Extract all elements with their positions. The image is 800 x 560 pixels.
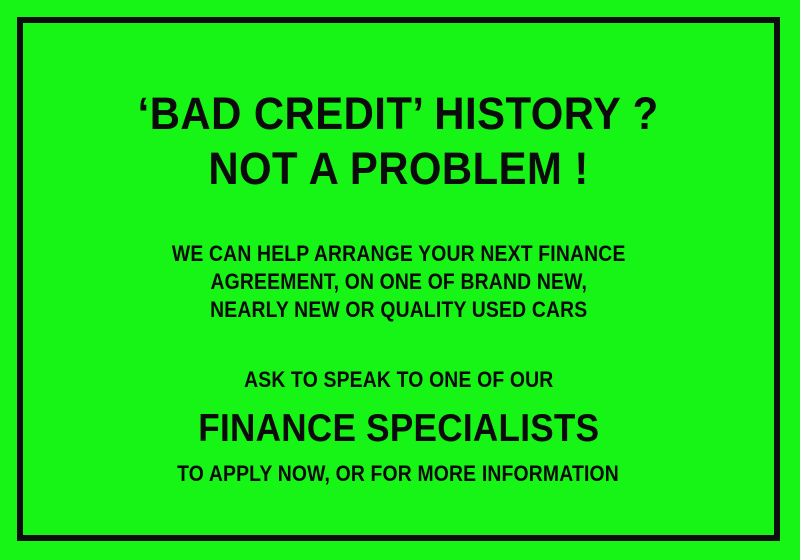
body-line-2: AGREEMENT, ON ONE OF BRAND NEW, [172,268,626,296]
advertisement-poster: ‘BAD CREDIT’ HISTORY ? NOT A PROBLEM ! W… [0,0,800,560]
headline-line-2: NOT A PROBLEM ! [208,143,589,195]
body-line-1: WE CAN HELP ARRANGE YOUR NEXT FINANCE [172,240,626,268]
poster-content: ‘BAD CREDIT’ HISTORY ? NOT A PROBLEM ! W… [23,23,774,535]
apply-now-line: TO APPLY NOW, OR FOR MORE INFORMATION [178,460,620,488]
finance-specialists-heading: FINANCE SPECIALISTS [198,406,599,452]
body-line-3: NEARLY NEW OR QUALITY USED CARS [172,296,626,324]
headline-line-1: ‘BAD CREDIT’ HISTORY ? [138,88,659,140]
ask-to-speak-line: ASK TO SPEAK TO ONE OF OUR [244,366,553,394]
body-paragraph: WE CAN HELP ARRANGE YOUR NEXT FINANCE AG… [141,240,656,324]
